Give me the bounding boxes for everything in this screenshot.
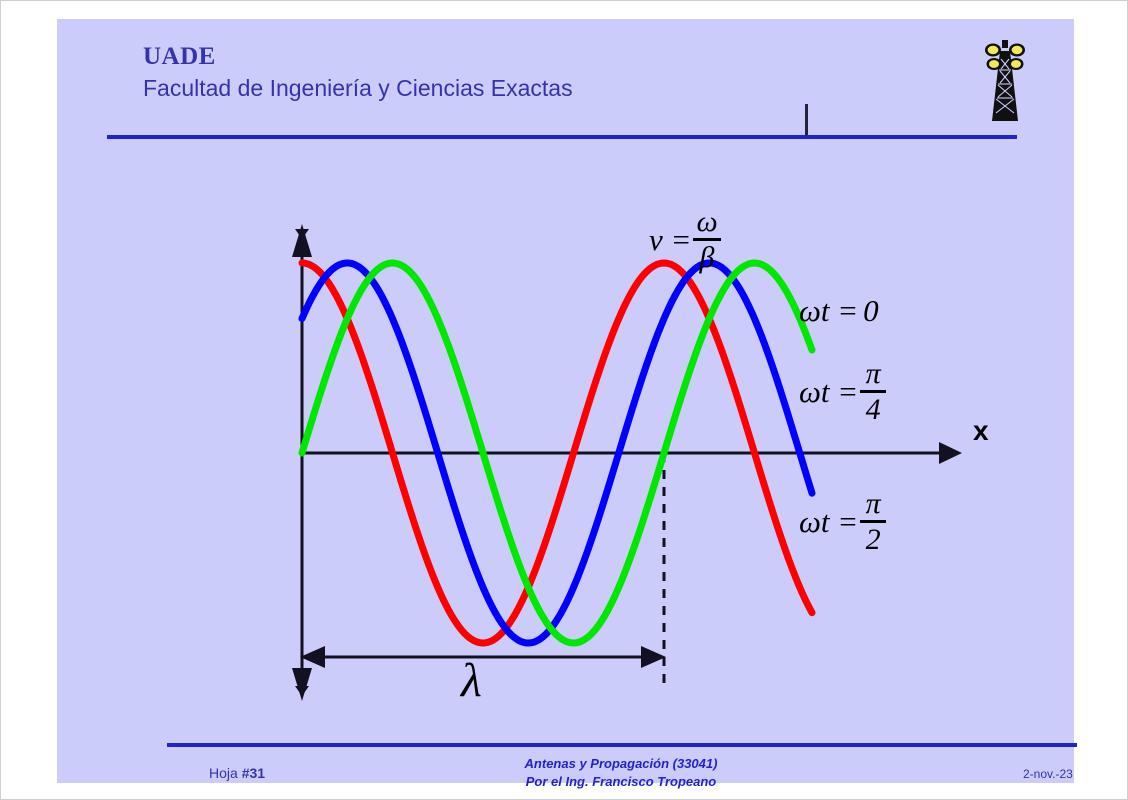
wavelength-arrow bbox=[300, 646, 666, 668]
course-credit: Antenas y Propagación (33041) Por el Ing… bbox=[57, 755, 1128, 790]
pi-over-2-fraction: π 2 bbox=[860, 488, 886, 555]
slide-canvas: UADE Facultad de Ingeniería y Ciencias E… bbox=[57, 19, 1074, 783]
course-title: Antenas y Propagación (33041) bbox=[57, 755, 1128, 773]
legend-den-1: 4 bbox=[863, 394, 884, 425]
antenna-tower-logo bbox=[975, 29, 1035, 129]
omega-symbol: ω bbox=[693, 206, 720, 237]
legend-den-2: 2 bbox=[863, 524, 884, 555]
pi-over-4-fraction: π 4 bbox=[860, 358, 886, 425]
legend-item-omega-t-pi-4: ωt = π 4 bbox=[799, 359, 886, 426]
faculty-title: Facultad de Ingeniería y Ciencias Exacta… bbox=[143, 74, 963, 103]
x-axis-label: x bbox=[973, 415, 989, 447]
slide-page: UADE Facultad de Ingeniería y Ciencias E… bbox=[0, 0, 1128, 800]
beta-symbol: β bbox=[697, 242, 718, 273]
legend-num-2: π bbox=[863, 488, 884, 519]
institution-title: UADE bbox=[143, 44, 963, 70]
legend-num-1: π bbox=[863, 358, 884, 389]
legend-item-omega-t-0: ωt = 0 bbox=[799, 293, 879, 329]
slide-date: 2-nov.-23 bbox=[1023, 767, 1073, 781]
header-divider-rule bbox=[107, 135, 1017, 139]
legend-lhs-0: ωt = bbox=[799, 293, 858, 329]
course-author: Por el Ing. Francisco Tropeano bbox=[57, 773, 1128, 791]
footer-divider-rule bbox=[167, 743, 1077, 747]
legend-value-0: 0 bbox=[863, 293, 879, 329]
phase-velocity-formula: v = ω β bbox=[649, 207, 721, 274]
velocity-lhs: v = bbox=[649, 222, 691, 258]
header-tick-mark bbox=[805, 104, 808, 137]
legend-lhs-2: ωt = bbox=[799, 504, 858, 540]
wavelength-symbol-label: λ bbox=[461, 653, 482, 708]
legend-lhs-1: ωt = bbox=[799, 374, 858, 410]
omega-over-beta-fraction: ω β bbox=[693, 206, 720, 273]
wave-propagation-chart bbox=[197, 179, 1037, 739]
slide-header: UADE Facultad de Ingeniería y Ciencias E… bbox=[143, 44, 963, 103]
legend-item-omega-t-pi-2: ωt = π 2 bbox=[799, 489, 886, 556]
x-axis bbox=[302, 442, 962, 464]
